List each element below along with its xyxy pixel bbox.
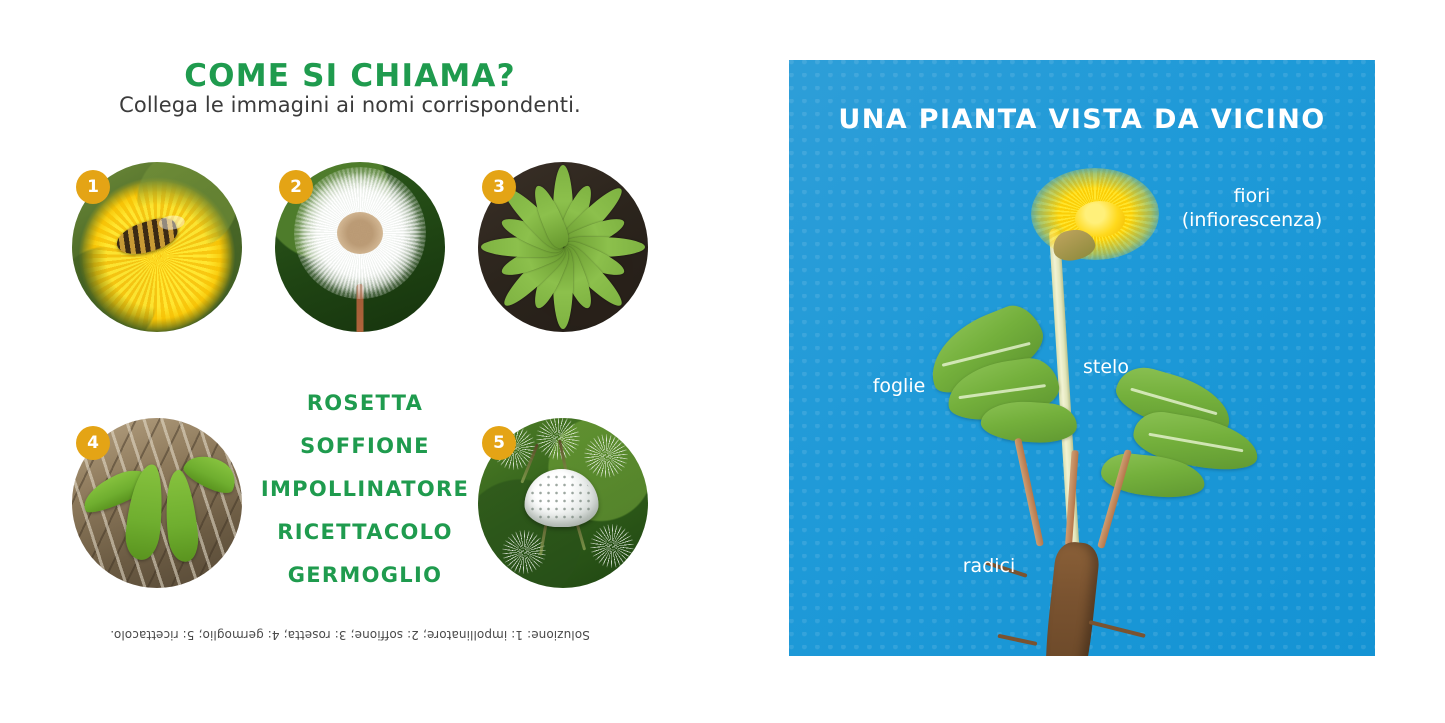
pappus-shape [590,524,634,568]
photo-circle-2[interactable]: 2 [275,162,445,332]
leaf-vein [1148,433,1243,453]
rootlet-shape [1089,620,1146,638]
word-option-ricettacolo[interactable]: RICETTACOLO [170,521,560,544]
rootlet-shape [997,634,1037,646]
photo-badge-3: 3 [482,170,516,204]
photo-circle-1[interactable]: 1 [72,162,242,332]
plant-diagram-panel: UNA PIANTA VISTA DA VICINO [789,60,1375,656]
word-bank: ROSETTA SOFFIONE IMPOLLINATORE RICETTACO… [170,392,560,587]
page-subtitle: Collega le immagini ai nomi corrisponden… [0,93,700,117]
photo-badge-5: 5 [482,426,516,460]
solution-text: Soluzione: 1: impollinatore; 2: soffione… [0,628,700,642]
leaf-vein [1130,388,1217,416]
photo-badge-4: 4 [76,426,110,460]
panel-title: UNA PIANTA VISTA DA VICINO [789,104,1375,135]
flower-head-shape [1031,168,1159,260]
pappus-shape [584,434,628,478]
label-foglie: foglie [849,375,949,399]
photo-badge-2: 2 [279,170,313,204]
leaf-stalk-shape [1014,438,1044,547]
word-option-germoglio[interactable]: GERMOGLIO [170,564,560,587]
label-stelo: stelo [1061,356,1151,380]
taproot-shape [1037,540,1101,656]
seedhead-core-shape [337,212,383,254]
leaf-vein [959,384,1046,399]
word-option-rosetta[interactable]: ROSETTA [170,392,560,415]
photo-badge-1: 1 [76,170,110,204]
worksheet-page: COME SI CHIAMA? Collega le immagini ai n… [0,0,1445,723]
flower-petals-shape [82,181,232,331]
word-option-impollinatore[interactable]: IMPOLLINATORE [170,478,560,501]
photo-circle-3[interactable]: 3 [478,162,648,332]
exercise-panel: COME SI CHIAMA? Collega le immagini ai n… [0,0,789,723]
page-title: COME SI CHIAMA? [0,58,700,94]
label-fiori: fiori (infiorescenza) [1167,185,1337,233]
label-radici: radici [939,555,1039,579]
